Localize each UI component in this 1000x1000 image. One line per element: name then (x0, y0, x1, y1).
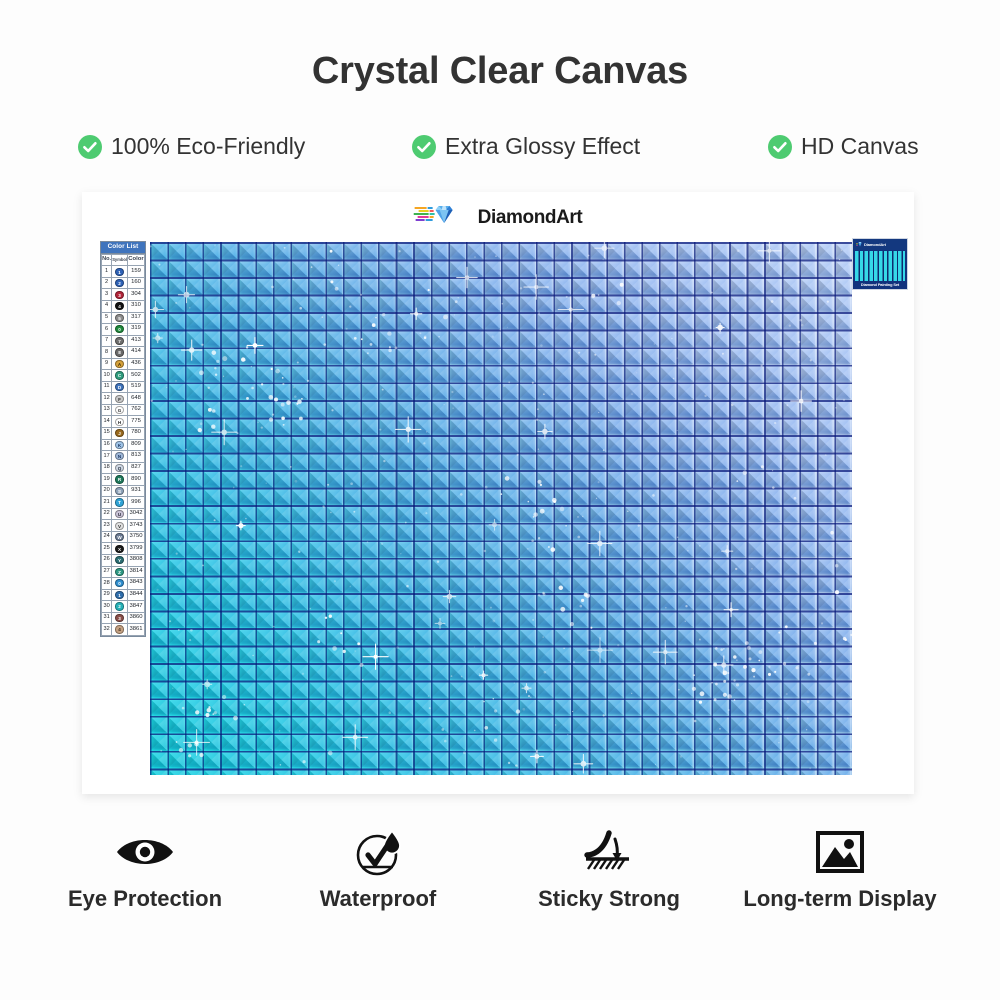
benefit-label: Eye Protection (20, 886, 270, 912)
cell-color-code: 827 (127, 462, 144, 474)
cell-symbol: C (112, 370, 128, 382)
color-swatch-icon: 1 (115, 591, 123, 599)
cell-color-code: 3814 (127, 566, 144, 578)
product-infographic: Crystal Clear Canvas 100% Eco-Friendly E… (0, 0, 1000, 1000)
cell-symbol: W (112, 531, 128, 543)
cell-color-code: 160 (127, 277, 144, 289)
color-swatch-icon: F (115, 395, 123, 403)
cell-color-code: 3843 (127, 578, 144, 590)
cell-no: 29 (102, 589, 112, 601)
thumbnail-caption: Diamond Painting Set (853, 282, 907, 287)
table-row: 16K809 (102, 439, 145, 451)
cell-no: 9 (102, 358, 112, 370)
color-swatch-icon: H (115, 418, 123, 426)
table-row: 17N813 (102, 451, 145, 463)
benefit-waterproof: Waterproof (253, 826, 503, 912)
color-swatch-icon: A (115, 360, 123, 368)
color-swatch-icon: Q (115, 464, 123, 472)
check-circle-icon (78, 135, 102, 159)
cell-no: 5 (102, 312, 112, 324)
waterdrop-icon (253, 826, 503, 878)
col-header-color: Color (127, 254, 144, 266)
cell-color-code: 304 (127, 289, 144, 301)
cell-symbol: R (112, 474, 128, 486)
diamond-canvas-preview (150, 242, 852, 775)
color-swatch-icon: 0 (115, 325, 123, 333)
cell-symbol: 0 (112, 578, 128, 590)
table-row: 19R890 (102, 474, 145, 486)
cell-symbol: D (112, 381, 128, 393)
cell-symbol: 8 (112, 347, 128, 359)
benefit-label: Sticky Strong (484, 886, 734, 912)
check-circle-icon (412, 135, 436, 159)
cell-no: 25 (102, 543, 112, 555)
cell-no: 21 (102, 497, 112, 509)
feature-label: HD Canvas (801, 133, 919, 160)
cell-color-code: 159 (127, 266, 144, 278)
sparkle-overlay (150, 242, 852, 775)
cell-symbol: 1 (112, 589, 128, 601)
feature-list: 100% Eco-Friendly Extra Glossy Effect HD… (0, 133, 1000, 167)
table-row: 11159 (102, 266, 145, 278)
color-swatch-icon: Z (115, 568, 123, 576)
col-header-symbol: Symbol (112, 254, 128, 266)
cell-color-code: 3808 (127, 555, 144, 567)
table-row: 3243861 (102, 624, 145, 636)
cell-no: 18 (102, 462, 112, 474)
cell-symbol: K (112, 439, 128, 451)
cell-color-code: 3042 (127, 508, 144, 520)
table-row: 13G762 (102, 404, 145, 416)
feature-item-eco: 100% Eco-Friendly (78, 133, 305, 160)
eye-icon (20, 826, 270, 878)
color-swatch-icon: 5 (115, 314, 123, 322)
cell-no: 16 (102, 439, 112, 451)
cell-color-code: 3844 (127, 589, 144, 601)
table-row: 22U3042 (102, 508, 145, 520)
cell-symbol: F (112, 393, 128, 405)
col-header-no: No. (102, 254, 112, 266)
cell-symbol: Z (112, 566, 128, 578)
table-row: 9A436 (102, 358, 145, 370)
cell-color-code: 3743 (127, 520, 144, 532)
cell-no: 1 (102, 266, 112, 278)
color-swatch-icon: R (115, 475, 123, 483)
color-swatch-icon: 8 (115, 348, 123, 356)
cell-no: 26 (102, 555, 112, 567)
feature-item-glossy: Extra Glossy Effect (412, 133, 640, 160)
cell-no: 2 (102, 277, 112, 289)
product-thumbnail: DiamondArt Diamond Painting Set (852, 238, 908, 290)
cell-no: 30 (102, 601, 112, 613)
picture-icon (715, 826, 965, 878)
cell-symbol: 4 (112, 300, 128, 312)
cell-no: 12 (102, 393, 112, 405)
color-swatch-icon: U (115, 510, 123, 518)
cell-color-code: 3861 (127, 624, 144, 636)
feature-label: 100% Eco-Friendly (111, 133, 305, 160)
brand-logo: DiamondArt (414, 203, 583, 232)
color-swatch-icon: 2 (115, 279, 123, 287)
table-row: 77413 (102, 335, 145, 347)
table-row: 23V3743 (102, 520, 145, 532)
diamond-gem-icon (414, 203, 470, 232)
cell-color-code: 3860 (127, 612, 144, 624)
cell-no: 14 (102, 416, 112, 428)
cell-symbol: N (112, 451, 128, 463)
cell-symbol: Y (112, 555, 128, 567)
color-swatch-icon: 3 (115, 291, 123, 299)
table-row: 21T996 (102, 497, 145, 509)
cell-color-code: 780 (127, 428, 144, 440)
cell-color-code: 519 (127, 381, 144, 393)
cell-symbol: 2 (112, 277, 128, 289)
benefit-long-term-display: Long-term Display (715, 826, 965, 912)
color-swatch-icon: N (115, 452, 123, 460)
table-row: 55317 (102, 312, 145, 324)
cell-color-code: 502 (127, 370, 144, 382)
color-swatch-icon: G (115, 406, 123, 414)
color-swatch-icon: W (115, 533, 123, 541)
color-swatch-icon: 4 (115, 302, 123, 310)
color-swatch-icon: C (115, 371, 123, 379)
cell-color-code: 762 (127, 404, 144, 416)
cell-color-code: 648 (127, 393, 144, 405)
page-title: Crystal Clear Canvas (0, 50, 1000, 93)
cell-no: 24 (102, 531, 112, 543)
cell-no: 32 (102, 624, 112, 636)
canvas-card: DiamondArt Color List No. Symbol Color 1… (82, 192, 914, 794)
color-swatch-icon: S (115, 487, 123, 495)
cell-color-code: 890 (127, 474, 144, 486)
table-row: 3133860 (102, 612, 145, 624)
cell-color-code: 931 (127, 485, 144, 497)
table-row: 22160 (102, 277, 145, 289)
cell-no: 17 (102, 451, 112, 463)
table-row: 24W3750 (102, 531, 145, 543)
thumbnail-drill-grid (855, 251, 905, 281)
cell-symbol: 7 (112, 335, 128, 347)
table-row: 26Y3808 (102, 555, 145, 567)
benefits-row: Eye Protection Waterproof (0, 826, 1000, 936)
cell-color-code: 813 (127, 451, 144, 463)
thumbnail-brand: DiamondArt (864, 242, 886, 247)
cell-color-code: 310 (127, 300, 144, 312)
cell-color-code: 3847 (127, 601, 144, 613)
table-row: 3023847 (102, 601, 145, 613)
cell-no: 7 (102, 335, 112, 347)
benefit-sticky-strong: Sticky Strong (484, 826, 734, 912)
table-row: 2803843 (102, 578, 145, 590)
color-swatch-icon: T (115, 498, 123, 506)
table-row: 2913844 (102, 589, 145, 601)
brand-name: DiamondArt (478, 207, 583, 229)
color-swatch-icon: J (115, 429, 123, 437)
color-swatch-icon: 1 (115, 268, 123, 276)
cell-color-code: 319 (127, 324, 144, 336)
cell-symbol: 5 (112, 312, 128, 324)
table-row: 27Z3814 (102, 566, 145, 578)
color-swatch-icon: V (115, 522, 123, 530)
color-list-body: 1115922160333044431055317603197741388414… (102, 266, 145, 636)
table-row: 11D519 (102, 381, 145, 393)
color-swatch-icon: X (115, 545, 123, 553)
color-swatch-icon: 3 (115, 614, 123, 622)
cell-no: 4 (102, 300, 112, 312)
cell-symbol: 3 (112, 612, 128, 624)
table-row: 12F648 (102, 393, 145, 405)
table-row: 25X3799 (102, 543, 145, 555)
table-header-row: No. Symbol Color (102, 254, 145, 266)
color-list-title: Color List (101, 242, 145, 254)
color-swatch-icon: D (115, 383, 123, 391)
cell-symbol: 4 (112, 624, 128, 636)
benefit-label: Waterproof (253, 886, 503, 912)
cell-symbol: J (112, 428, 128, 440)
cell-symbol: U (112, 508, 128, 520)
cell-no: 19 (102, 474, 112, 486)
feature-item-hd: HD Canvas (768, 133, 919, 160)
cell-no: 28 (102, 578, 112, 590)
cell-no: 11 (102, 381, 112, 393)
cell-no: 20 (102, 485, 112, 497)
cell-no: 23 (102, 520, 112, 532)
cell-no: 8 (102, 347, 112, 359)
cell-no: 22 (102, 508, 112, 520)
color-swatch-icon: Y (115, 556, 123, 564)
table-row: 14H775 (102, 416, 145, 428)
cell-color-code: 317 (127, 312, 144, 324)
cell-no: 27 (102, 566, 112, 578)
cell-symbol: X (112, 543, 128, 555)
cell-symbol: Q (112, 462, 128, 474)
cell-no: 10 (102, 370, 112, 382)
cell-symbol: G (112, 404, 128, 416)
table-row: 33304 (102, 289, 145, 301)
benefit-eye-protection: Eye Protection (20, 826, 270, 912)
color-list-panel: Color List No. Symbol Color 111592216033… (100, 241, 146, 637)
check-circle-icon (768, 135, 792, 159)
cell-color-code: 3750 (127, 531, 144, 543)
color-swatch-icon: 7 (115, 337, 123, 345)
cell-symbol: S (112, 485, 128, 497)
cell-symbol: 0 (112, 324, 128, 336)
cell-color-code: 413 (127, 335, 144, 347)
color-swatch-icon: 2 (115, 602, 123, 610)
cell-no: 31 (102, 612, 112, 624)
table-row: 10C502 (102, 370, 145, 382)
cell-color-code: 809 (127, 439, 144, 451)
cell-color-code: 775 (127, 416, 144, 428)
color-list-table: No. Symbol Color 11159221603330444310553… (101, 254, 145, 636)
table-row: 88414 (102, 347, 145, 359)
table-row: 20S931 (102, 485, 145, 497)
feature-label: Extra Glossy Effect (445, 133, 640, 160)
cell-no: 13 (102, 404, 112, 416)
cell-no: 15 (102, 428, 112, 440)
table-row: 18Q827 (102, 462, 145, 474)
cell-symbol: H (112, 416, 128, 428)
thumbnail-header: DiamondArt (853, 239, 907, 250)
adhesive-icon (484, 826, 734, 878)
cell-color-code: 3799 (127, 543, 144, 555)
diamond-gem-icon (856, 242, 862, 247)
cell-symbol: T (112, 497, 128, 509)
table-row: 60319 (102, 324, 145, 336)
color-swatch-icon: 4 (115, 625, 123, 633)
cell-color-code: 436 (127, 358, 144, 370)
cell-color-code: 414 (127, 347, 144, 359)
color-swatch-icon: K (115, 441, 123, 449)
table-row: 44310 (102, 300, 145, 312)
cell-symbol: A (112, 358, 128, 370)
cell-color-code: 996 (127, 497, 144, 509)
cell-no: 3 (102, 289, 112, 301)
color-swatch-icon: 0 (115, 579, 123, 587)
cell-symbol: V (112, 520, 128, 532)
cell-symbol: 2 (112, 601, 128, 613)
benefit-label: Long-term Display (715, 886, 965, 912)
table-row: 15J780 (102, 428, 145, 440)
cell-no: 6 (102, 324, 112, 336)
cell-symbol: 3 (112, 289, 128, 301)
cell-symbol: 1 (112, 266, 128, 278)
